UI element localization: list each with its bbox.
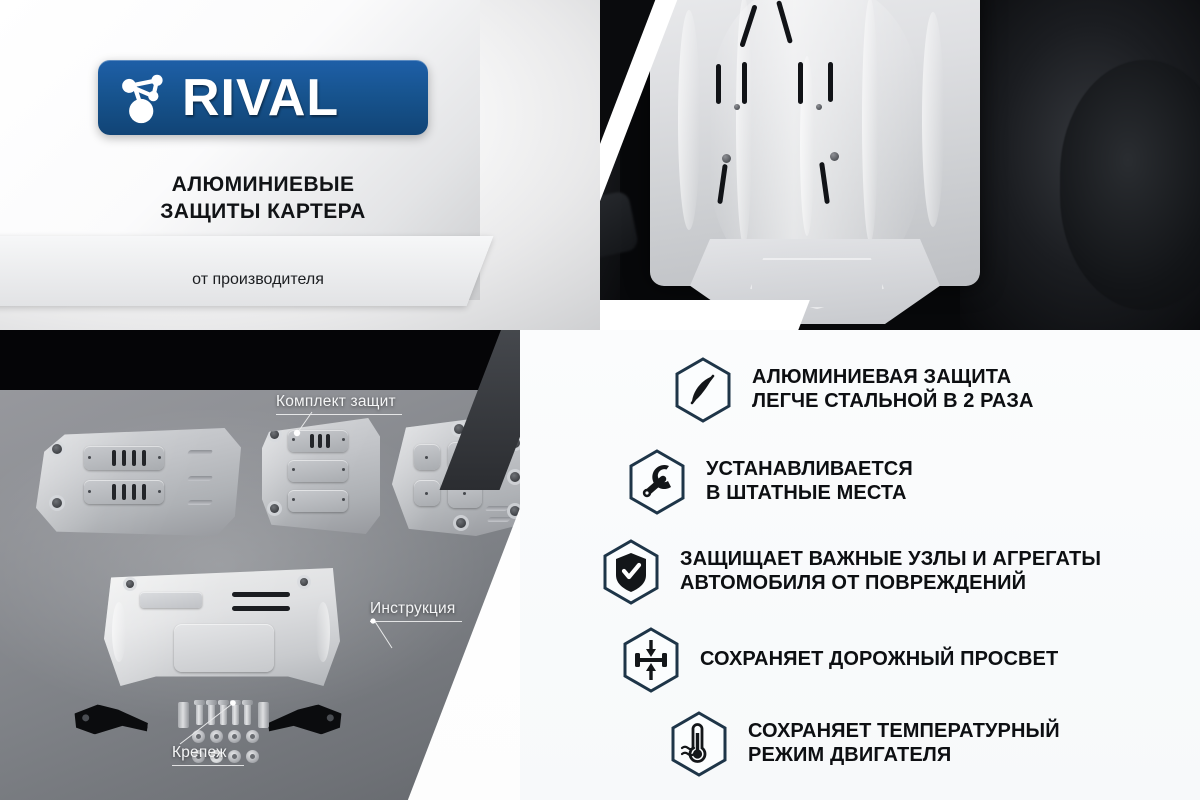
shield-check-icon: [600, 538, 662, 606]
installed-skid-plate: [650, 0, 980, 286]
callout-hardware-leader: [176, 700, 246, 748]
benefit-label: АЛЮМИНИЕВАЯ ЗАЩИТА ЛЕГЧЕ СТАЛЬНОЙ В 2 РА…: [752, 366, 1034, 413]
clearance-icon: [620, 626, 682, 694]
benefit-item-clearance: СОХРАНЯЕТ ДОРОЖНЫЙ ПРОСВЕТ: [620, 626, 1058, 694]
leaf-icon: [672, 356, 734, 424]
benefits-list: АЛЮМИНИЕВАЯ ЗАЩИТА ЛЕГЧЕ СТАЛЬНОЙ В 2 РА…: [596, 338, 1200, 800]
callout-kit-label: Комплект защит: [276, 393, 402, 411]
benefit-item-fitment: УСТАНАВЛИВАЕТСЯ В ШТАТНЫЕ МЕСТА: [626, 448, 913, 516]
benefit-label: СОХРАНЯЕТ ДОРОЖНЫЙ ПРОСВЕТ: [700, 648, 1058, 672]
callout-instruction-label: Инструкция: [370, 600, 462, 618]
page-subtitle: от производителя: [98, 270, 418, 289]
callout-instruction: Инструкция: [370, 600, 462, 622]
rival-wordmark: RIVAL: [182, 72, 339, 124]
skid-plate-large: [104, 568, 340, 686]
title-line-1: АЛЮМИНИЕВЫЕ: [98, 172, 428, 199]
benefit-item-protection: ЗАЩИЩАЕТ ВАЖНЫЕ УЗЛЫ И АГРЕГАТЫ АВТОМОБИ…: [600, 538, 1101, 606]
callout-kit-leader: [280, 412, 320, 438]
benefit-item-weight: АЛЮМИНИЕВАЯ ЗАЩИТА ЛЕГЧЕ СТАЛЬНОЙ В 2 РА…: [672, 356, 1034, 424]
benefit-item-temperature: СОХРАНЯЕТ ТЕМПЕРАТУРНЫЙ РЕЖИМ ДВИГАТЕЛЯ: [668, 710, 1060, 778]
promo-banner: Преимущества: [0, 0, 1200, 800]
rival-logo: RIVAL: [98, 60, 428, 135]
page-title: АЛЮМИНИЕВЫЕ ЗАЩИТЫ КАРТЕРА: [98, 172, 428, 226]
callout-instruction-leader: [366, 620, 406, 654]
brand-panel: RIVAL АЛЮМИНИЕВЫЕ ЗАЩИТЫ КАРТЕРА от прои…: [0, 0, 600, 330]
thermometer-icon: [668, 710, 730, 778]
title-line-2: ЗАЩИТЫ КАРТЕРА: [98, 199, 428, 226]
benefit-label: ЗАЩИЩАЕТ ВАЖНЫЕ УЗЛЫ И АГРЕГАТЫ АВТОМОБИ…: [680, 548, 1101, 595]
benefit-label: УСТАНАВЛИВАЕТСЯ В ШТАТНЫЕ МЕСТА: [706, 458, 913, 505]
benefit-label: СОХРАНЯЕТ ТЕМПЕРАТУРНЫЙ РЕЖИМ ДВИГАТЕЛЯ: [748, 720, 1060, 767]
molecule-icon: [116, 71, 172, 125]
wrench-icon: [626, 448, 688, 516]
skid-plate-left: [36, 428, 241, 536]
